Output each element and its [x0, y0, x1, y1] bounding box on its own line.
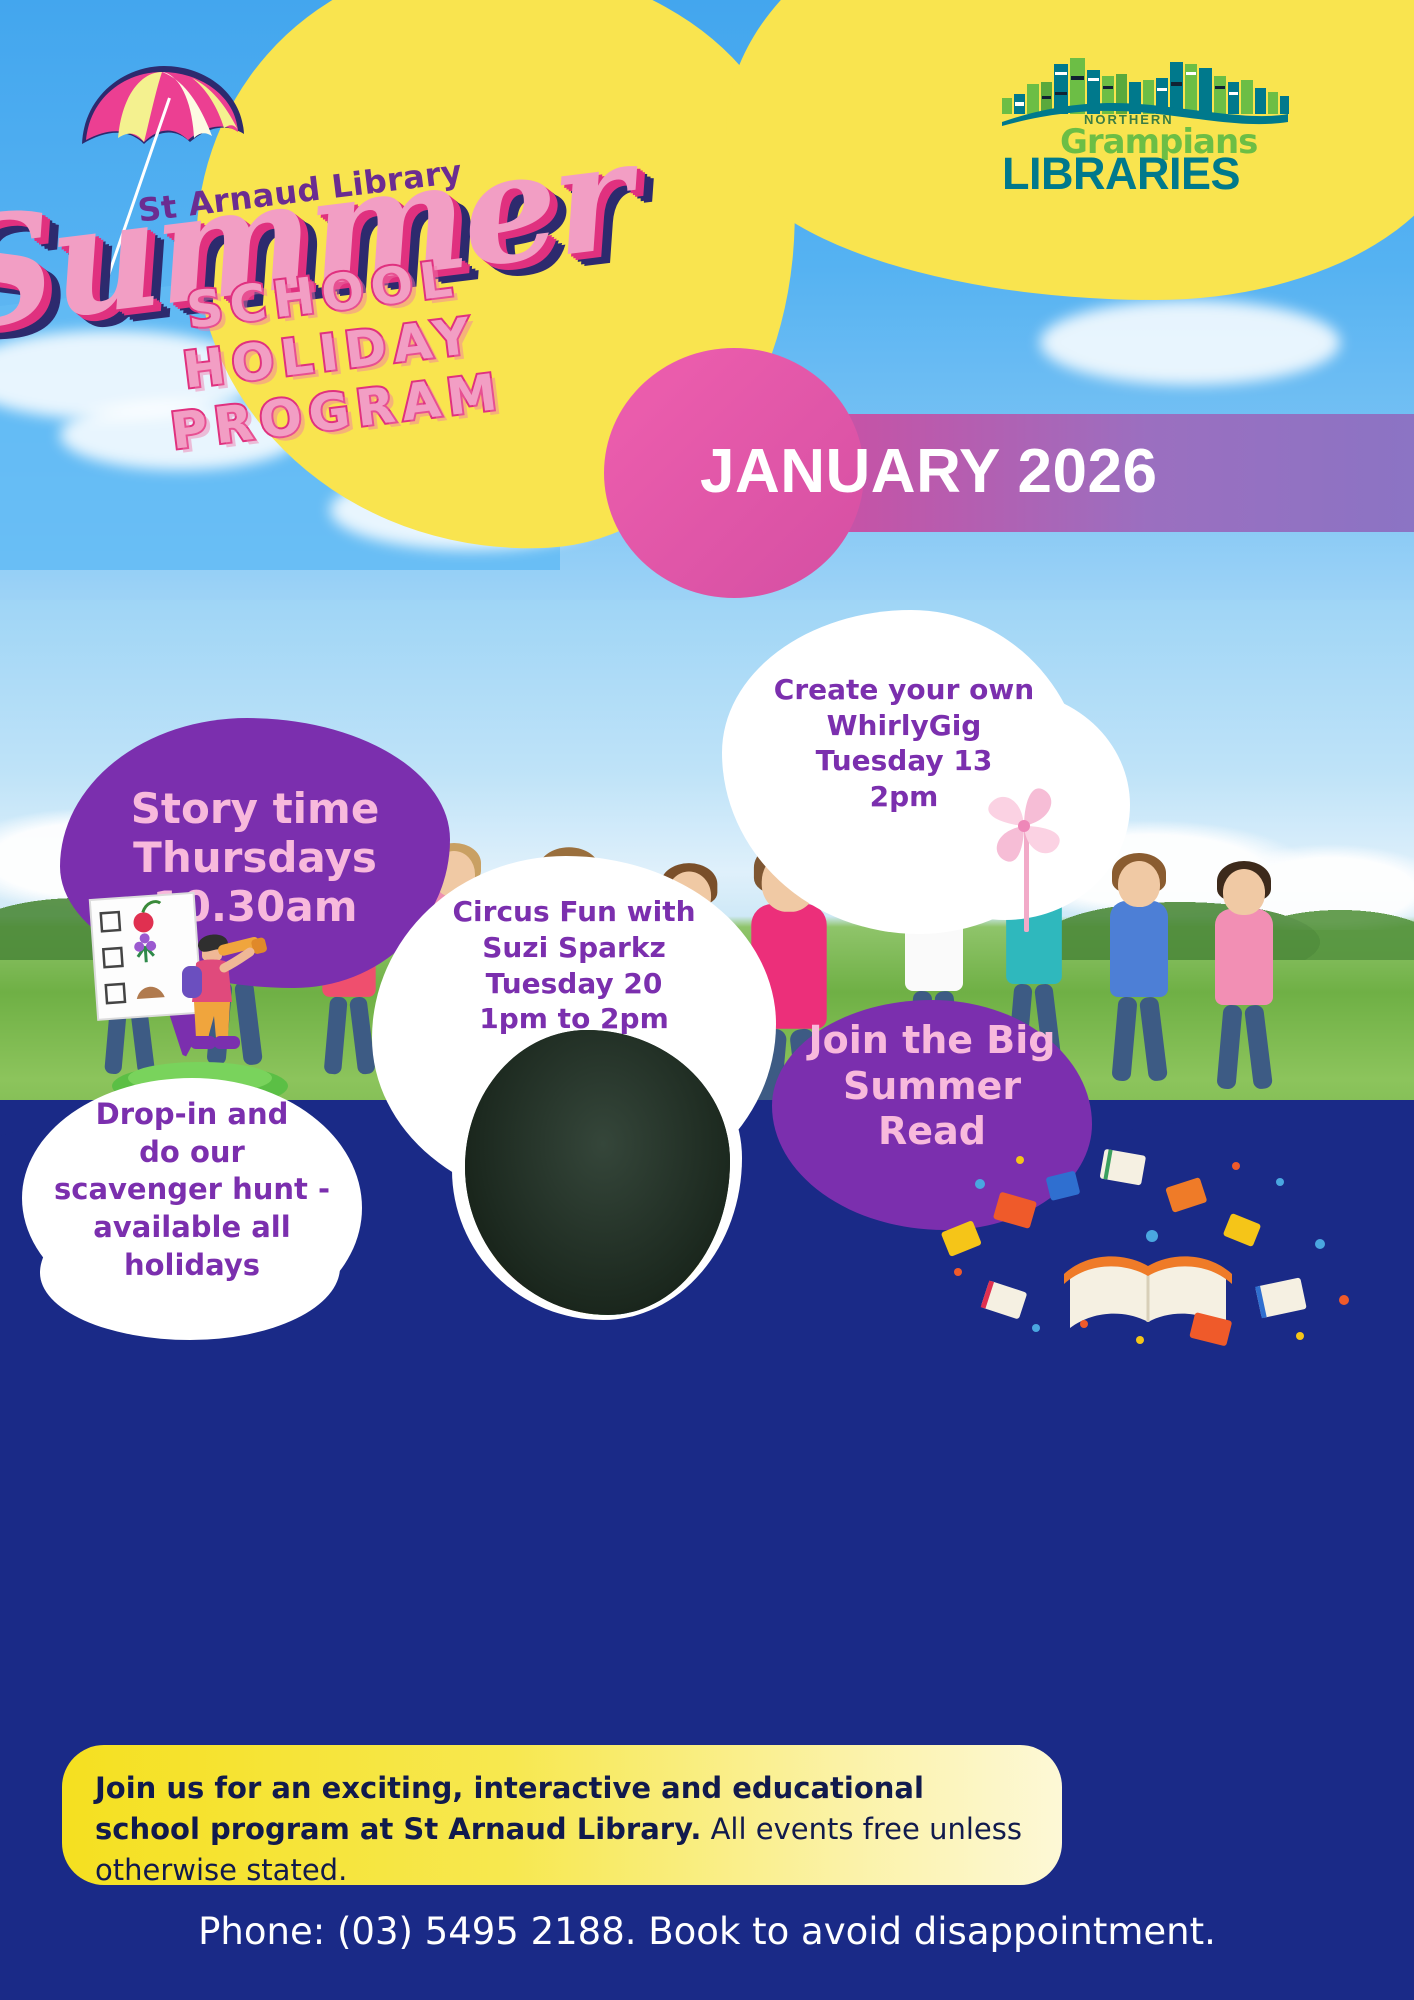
- whirlygig-line-3: Tuesday 13: [724, 743, 1084, 779]
- performer-photo: [465, 1030, 730, 1315]
- scavenger-text: Drop-in and do our scavenger hunt - avai…: [24, 1096, 360, 1284]
- summer-read-text: Join the Big Summer Read: [774, 1018, 1090, 1155]
- info-banner-text: Join us for an exciting, interactive and…: [95, 1768, 1035, 1892]
- scavenger-line-2: do our: [24, 1134, 360, 1172]
- scavenger-line-3: scavenger hunt -: [24, 1171, 360, 1209]
- story-time-line-1: Story time: [62, 784, 448, 833]
- circus-line-3: Tuesday 20: [374, 966, 774, 1002]
- circus-line-2: Suzi Sparkz: [374, 930, 774, 966]
- scavenger-line-4: available all: [24, 1209, 360, 1247]
- summer-read-line-2: Summer: [774, 1064, 1090, 1110]
- scavenger-line-1: Drop-in and: [24, 1096, 360, 1134]
- whirlygig-line-1: Create your own: [724, 672, 1084, 708]
- pinwheel-icon: [962, 776, 1092, 936]
- summer-read-line-1: Join the Big: [774, 1018, 1090, 1064]
- circus-line-1: Circus Fun with: [374, 894, 774, 930]
- child-figure: [1215, 869, 1273, 1089]
- scavenger-line-5: holidays: [24, 1247, 360, 1285]
- flying-books-illustration: [940, 1140, 1370, 1370]
- performer-photo-backdrop: [465, 1030, 730, 1315]
- logo-libraries-text: LIBRARIES: [1002, 148, 1290, 200]
- phone-line: Phone: (03) 5495 2188. Book to avoid dis…: [0, 1910, 1414, 1953]
- child-figure: [1110, 861, 1168, 1081]
- date-banner-text: JANUARY 2026: [700, 436, 1400, 507]
- circus-text: Circus Fun with Suzi Sparkz Tuesday 20 1…: [374, 894, 774, 1037]
- poster-root: St Arnaud Library Summer SCHOOL HOLIDAY …: [0, 0, 1414, 2000]
- whirlygig-line-2: WhirlyGig: [724, 708, 1084, 744]
- story-time-line-2: Thursdays: [62, 833, 448, 882]
- scavenger-hunt-illustration: [80, 888, 310, 1108]
- northern-grampians-libraries-logo: NORTHERN Grampians LIBRARIES: [1000, 52, 1290, 177]
- cloud: [1040, 300, 1340, 385]
